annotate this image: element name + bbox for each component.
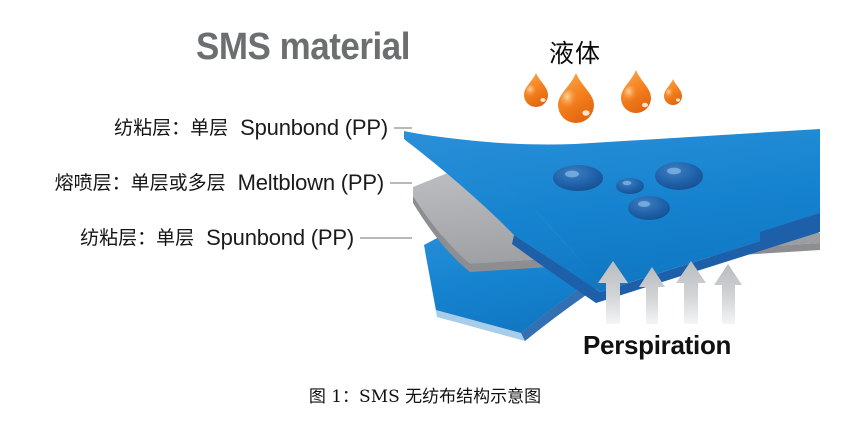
callout-spunbond-top: 纺粘层：单层 Spunbond (PP) [0,113,412,143]
arrow-up [714,264,742,324]
callout-label-en: Meltblown (PP) [238,168,384,198]
callout-meltblown: 熔喷层：单层或多层 Meltblown (PP) [0,168,412,198]
bead [628,196,670,220]
callout-spunbond-bottom: 纺粘层：单层 Spunbond (PP) [0,223,412,253]
liquid-droplets [524,70,682,123]
droplet [621,70,651,113]
droplet [558,73,594,123]
callout-label-cn: 纺粘层：单层 [80,223,194,253]
figure-stage: SMS material [0,0,850,428]
leader-line [394,127,412,129]
sms-structure-illustration [0,0,850,428]
leader-line [360,237,412,239]
callout-label-cn: 纺粘层：单层 [114,113,228,143]
callout-label-en: Spunbond (PP) [206,223,354,253]
bead [655,162,703,190]
perspiration-label: Perspiration [583,330,731,361]
droplet [664,79,682,105]
liquid-label: 液体 [549,34,601,70]
bead [553,165,603,191]
callout-label-en: Spunbond (PP) [240,113,388,143]
bead [616,178,644,194]
figure-caption: 图 1：SMS 无纺布结构示意图 [0,382,850,407]
callout-label-cn: 熔喷层：单层或多层 [55,168,226,198]
droplet [524,73,548,107]
leader-line [390,182,412,184]
